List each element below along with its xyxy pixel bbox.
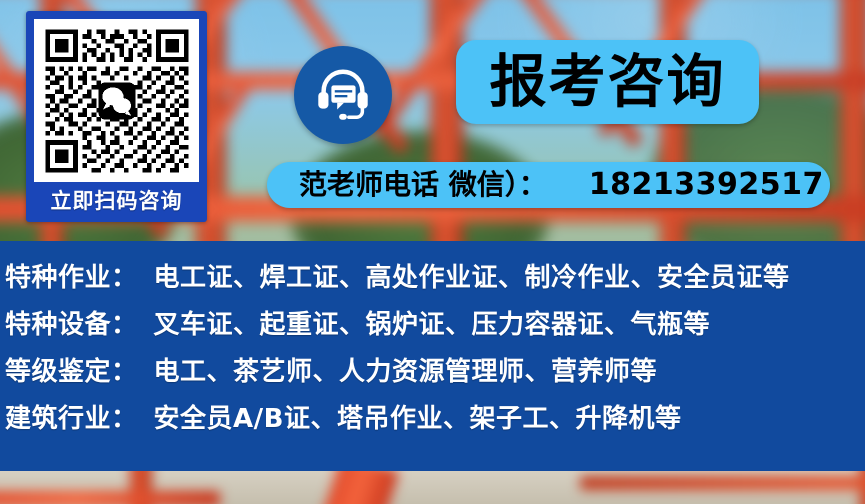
contact-label: 范老师电话 微信）： <box>299 171 547 199</box>
qr-code-image-wrapper[interactable] <box>34 19 199 182</box>
info-row-value: 电工证、焊工证、高处作业证、制冷作业、安全员证等 <box>154 257 790 294</box>
contact-phone-number[interactable]: 18213392517 <box>589 170 824 200</box>
info-row-value: 电工、茶艺师、人力资源管理师、营养师等 <box>154 351 658 388</box>
certification-categories-panel: 特种作业： 电工证、焊工证、高处作业证、制冷作业、安全员证等 特种设备： 叉车证… <box>0 241 865 471</box>
info-row-special-equipment: 特种设备： 叉车证、起重证、锅炉证、压力容器证、气瓶等 <box>0 304 865 351</box>
promotional-poster: 立即扫码咨询 报考咨询 范老师电话 微信）： 18213392517 <box>0 0 865 504</box>
info-row-label: 等级鉴定： <box>5 351 138 388</box>
headset-support-icon <box>294 46 392 144</box>
info-row-construction-industry: 建筑行业： 安全员A/B证、塔吊作业、架子工、升降机等 <box>0 398 865 445</box>
headset-support-icon-glyph <box>312 64 374 126</box>
info-row-label: 特种设备： <box>5 304 138 341</box>
bottom-photo-strip <box>0 471 865 504</box>
info-row-special-operations: 特种作业： 电工证、焊工证、高处作业证、制冷作业、安全员证等 <box>0 257 865 304</box>
info-row-label: 特种作业： <box>5 257 138 294</box>
qr-code-card[interactable]: 立即扫码咨询 <box>26 11 207 222</box>
page-title: 报考咨询 <box>490 54 726 111</box>
page-title-badge: 报考咨询 <box>456 40 759 124</box>
info-row-label: 建筑行业： <box>5 398 138 435</box>
qr-card-caption: 立即扫码咨询 <box>51 182 183 220</box>
info-row-value: 安全员A/B证、塔吊作业、架子工、升降机等 <box>154 398 682 435</box>
info-row-grade-assessment: 等级鉴定： 电工、茶艺师、人力资源管理师、营养师等 <box>0 351 865 398</box>
qr-code-image[interactable] <box>41 25 193 177</box>
contact-phone-badge[interactable]: 范老师电话 微信）： 18213392517 <box>267 162 830 208</box>
info-row-value: 叉车证、起重证、锅炉证、压力容器证、气瓶等 <box>154 304 711 341</box>
